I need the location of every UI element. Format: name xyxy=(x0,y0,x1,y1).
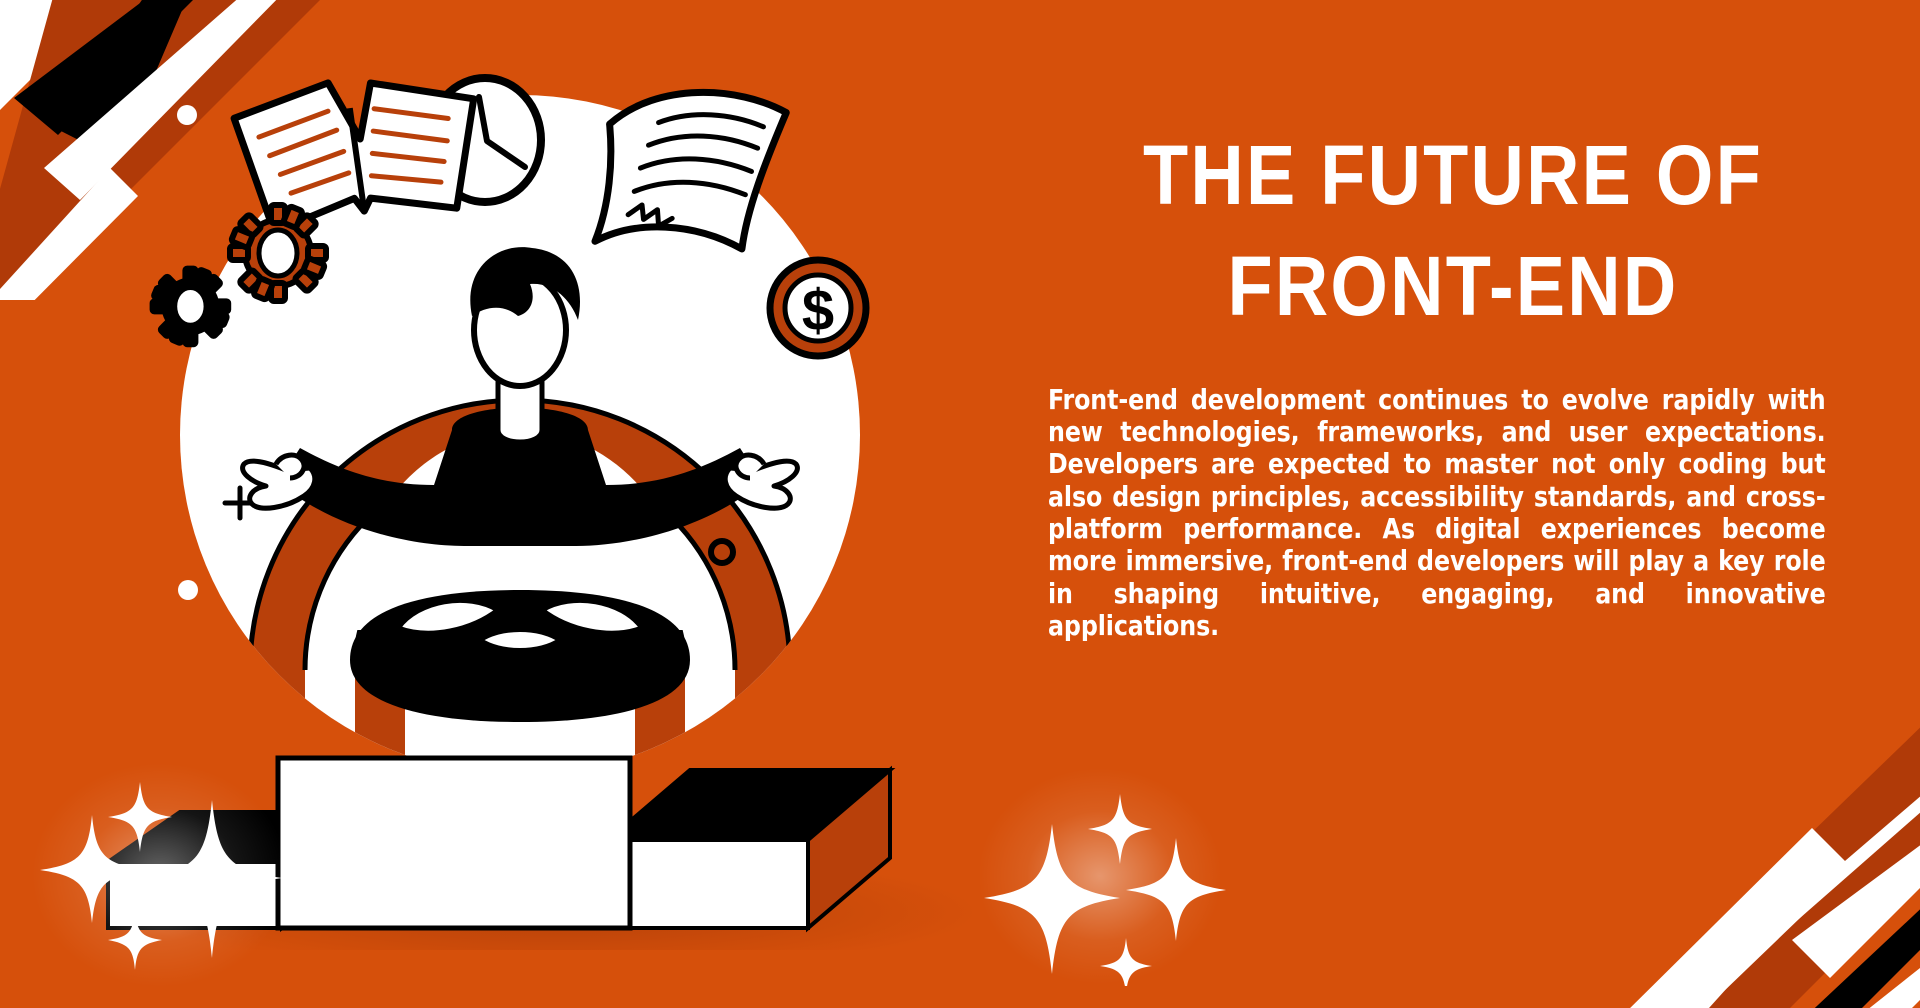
stripe-white-bar-br3 xyxy=(1852,960,1920,1008)
person-ankles xyxy=(480,630,560,651)
slide-canvas: $ xyxy=(0,0,1920,1008)
deco-dot-topleft xyxy=(177,105,197,125)
headline-line-2: FRONT-END xyxy=(1097,231,1810,342)
stripe-white-bar-br2 xyxy=(1792,838,1920,978)
illustration-meditating-developer: $ xyxy=(100,30,1020,950)
podium-block-center xyxy=(278,758,630,928)
stripe-white-bar-br xyxy=(1620,828,1852,1008)
sparkle-small-bottom xyxy=(1100,938,1152,986)
dollar-symbol: $ xyxy=(802,278,834,343)
text-column: THE FUTURE OF FRONT-END Front-end develo… xyxy=(1048,120,1858,642)
podium-blocks xyxy=(108,758,980,950)
person-legs xyxy=(350,590,690,722)
stripe-black-bar-br xyxy=(1802,900,1920,1008)
headline-line-1: THE FUTURE OF xyxy=(1097,120,1810,231)
body-paragraph: Front-end development continues to evolv… xyxy=(1048,384,1826,643)
dollar-coin-icon: $ xyxy=(770,260,866,356)
stripe-white-thinline-br xyxy=(1662,788,1920,1008)
stripe-white-short-br xyxy=(1684,908,1790,1008)
gear-icon-orange xyxy=(230,205,326,301)
sparkle-medium xyxy=(1126,838,1226,941)
stripe-darkorange-band-br xyxy=(1620,718,1920,1008)
gear-icon-black xyxy=(152,268,229,345)
page-title: THE FUTURE OF FRONT-END xyxy=(1097,120,1810,342)
sparkle-small-top xyxy=(1088,794,1152,864)
corner-decor-bottom-right xyxy=(1500,678,1920,1008)
deco-dot-left xyxy=(178,580,198,600)
